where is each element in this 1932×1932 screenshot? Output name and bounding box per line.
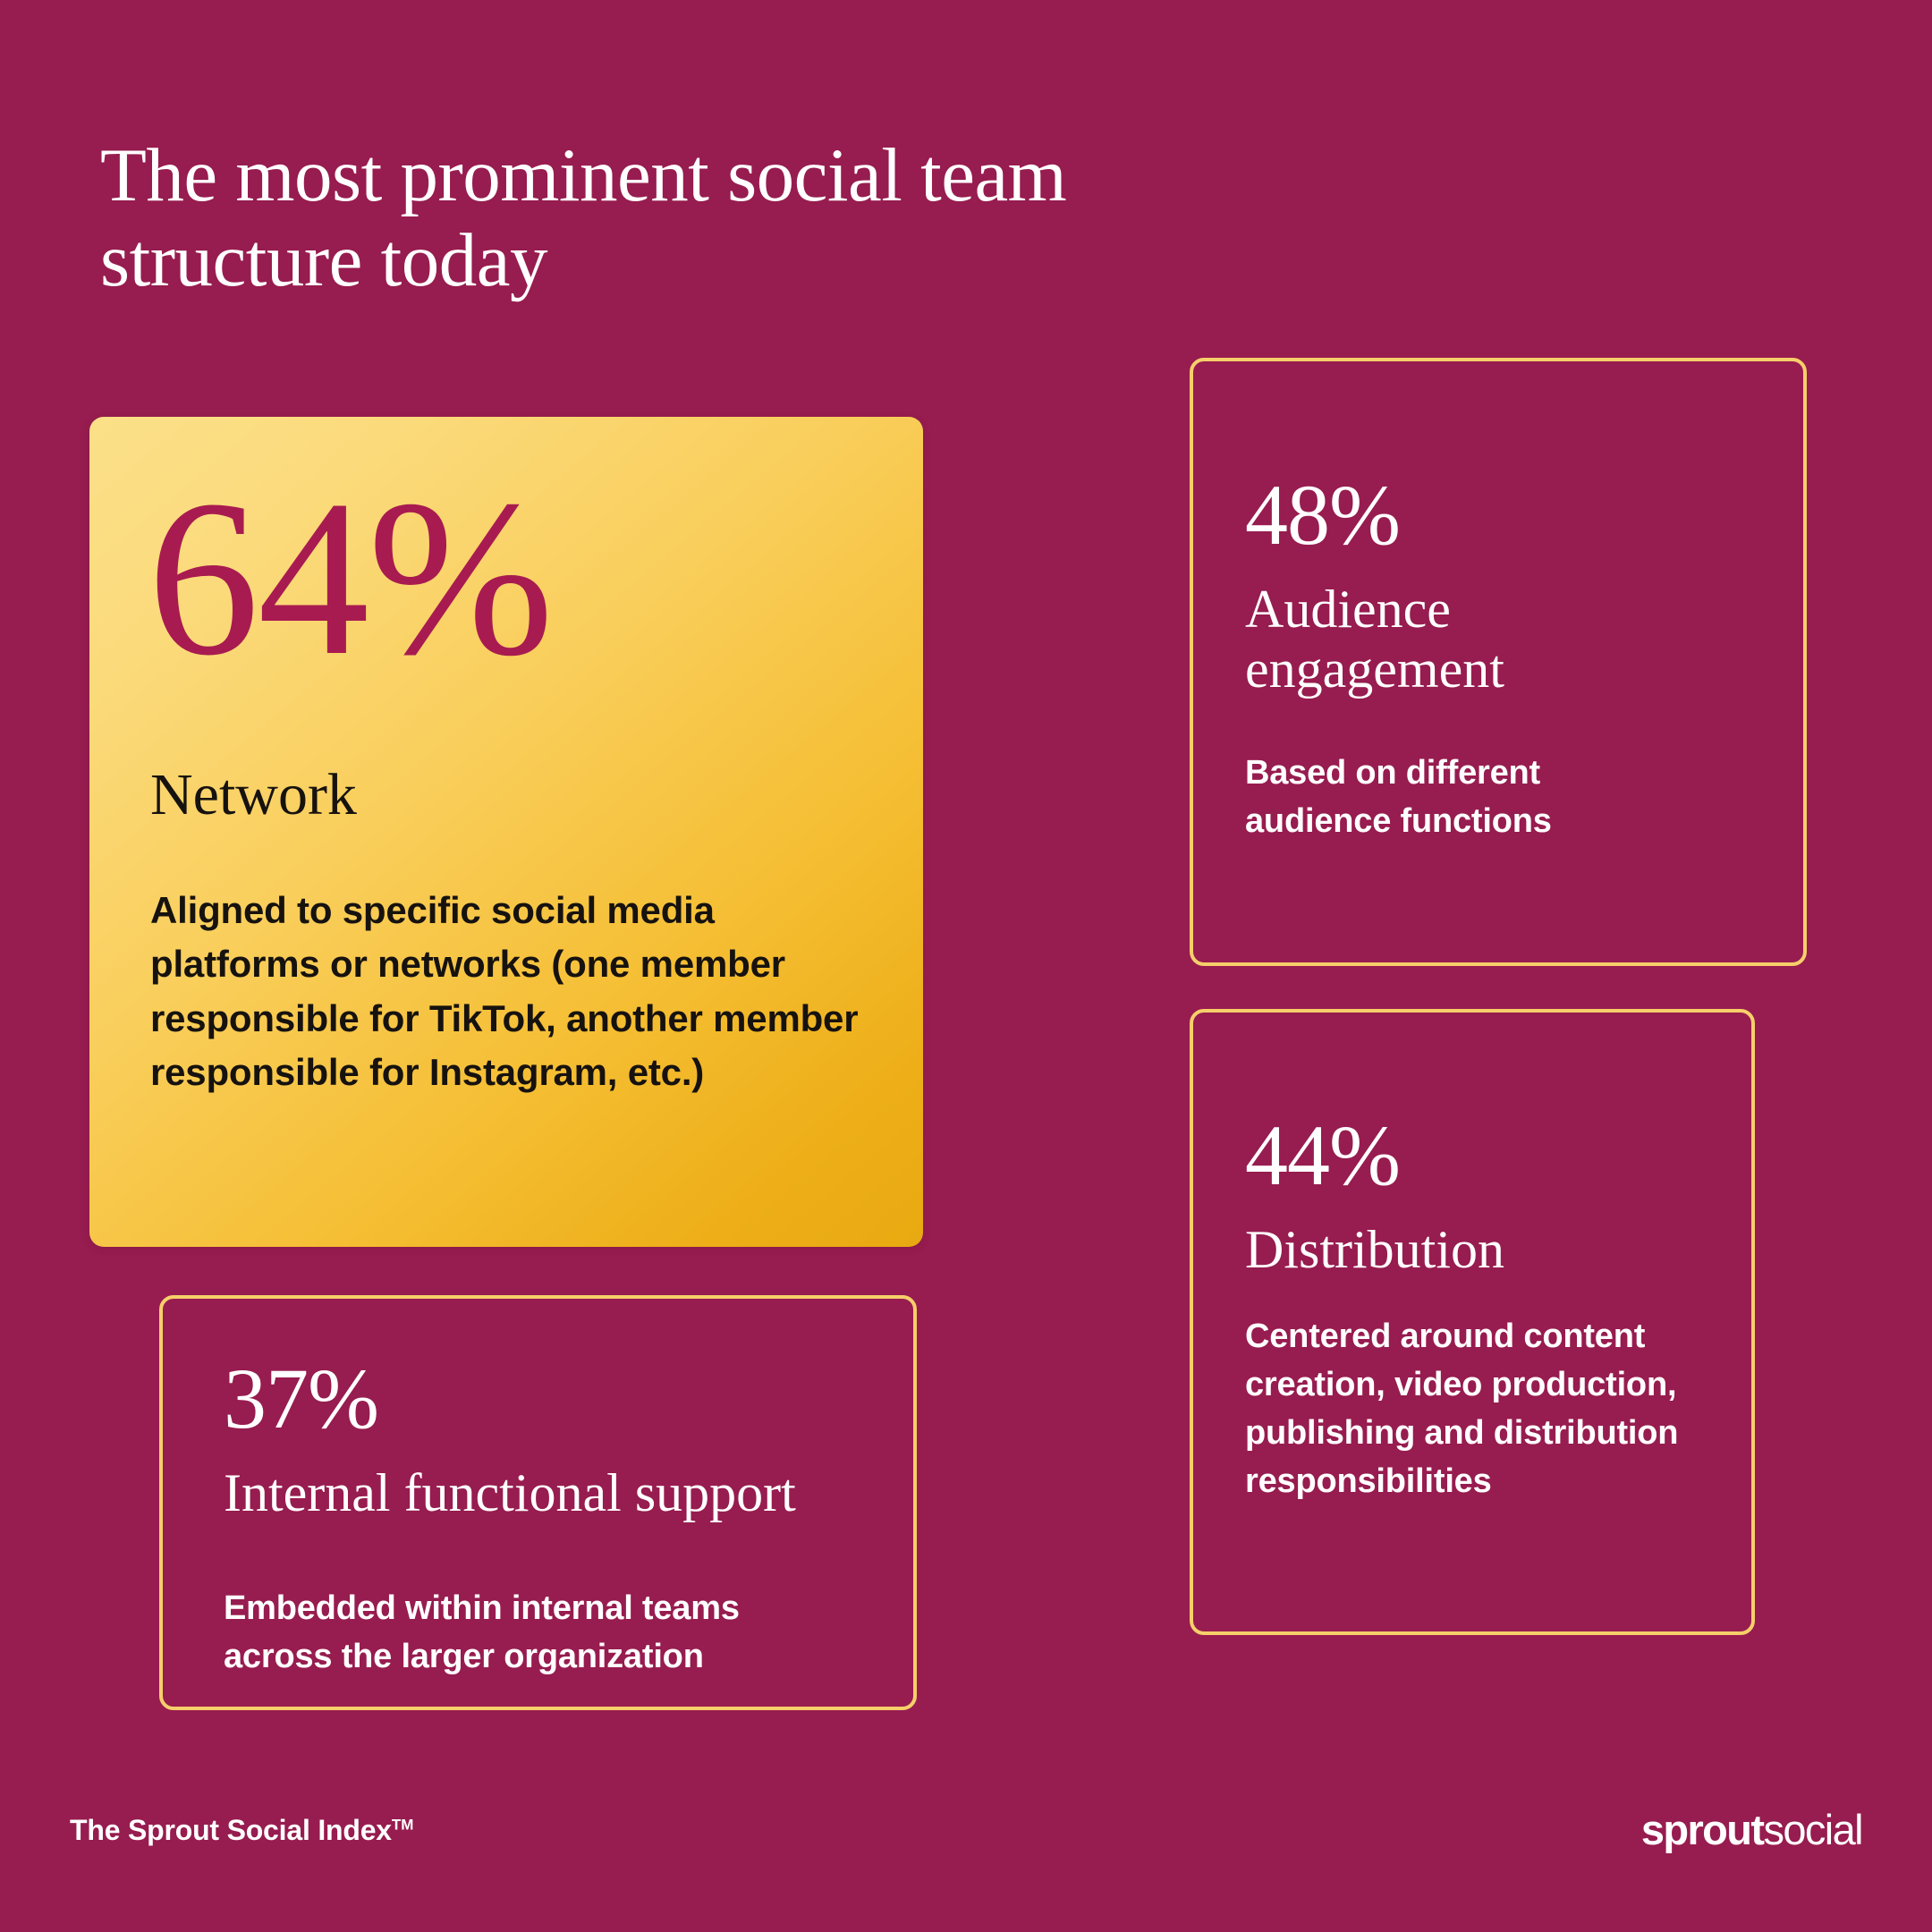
stat-label-audience-engagement: Audience engagement (1245, 580, 1665, 699)
stat-card-network: 64% Network Aligned to specific social m… (89, 417, 923, 1247)
stat-description-audience-engagement: Based on different audience functions (1245, 750, 1639, 846)
stat-label-distribution: Distribution (1245, 1220, 1674, 1280)
page-title: The most prominent social team structure… (100, 133, 1531, 303)
infographic-canvas: The most prominent social team structure… (0, 0, 1932, 1932)
stat-label-network: Network (150, 764, 357, 826)
footer-index-text: The Sprout Social Index (70, 1814, 392, 1846)
page-title-line-2: structure today (100, 218, 1531, 303)
stat-description-distribution: Centered around content creation, video … (1245, 1313, 1692, 1506)
logo-word-sprout: sprout (1641, 1806, 1764, 1853)
page-title-line-1: The most prominent social team (100, 133, 1531, 218)
stat-value-network: 64% (148, 469, 552, 688)
stat-description-internal-support: Embedded within internal teams across th… (224, 1585, 841, 1682)
stat-value-internal-support: 37% (224, 1356, 378, 1442)
stat-value-distribution: 44% (1245, 1113, 1400, 1199)
logo-word-social: social (1763, 1806, 1862, 1853)
sprout-social-logo: sproutsocial (1641, 1805, 1862, 1854)
stat-value-audience-engagement: 48% (1245, 472, 1400, 558)
stat-label-internal-support: Internal functional support (224, 1463, 903, 1523)
footer-index-label: The Sprout Social IndexTM (70, 1814, 413, 1847)
stat-description-network: Aligned to specific social media platfor… (150, 884, 866, 1100)
trademark-symbol: TM (392, 1816, 414, 1833)
